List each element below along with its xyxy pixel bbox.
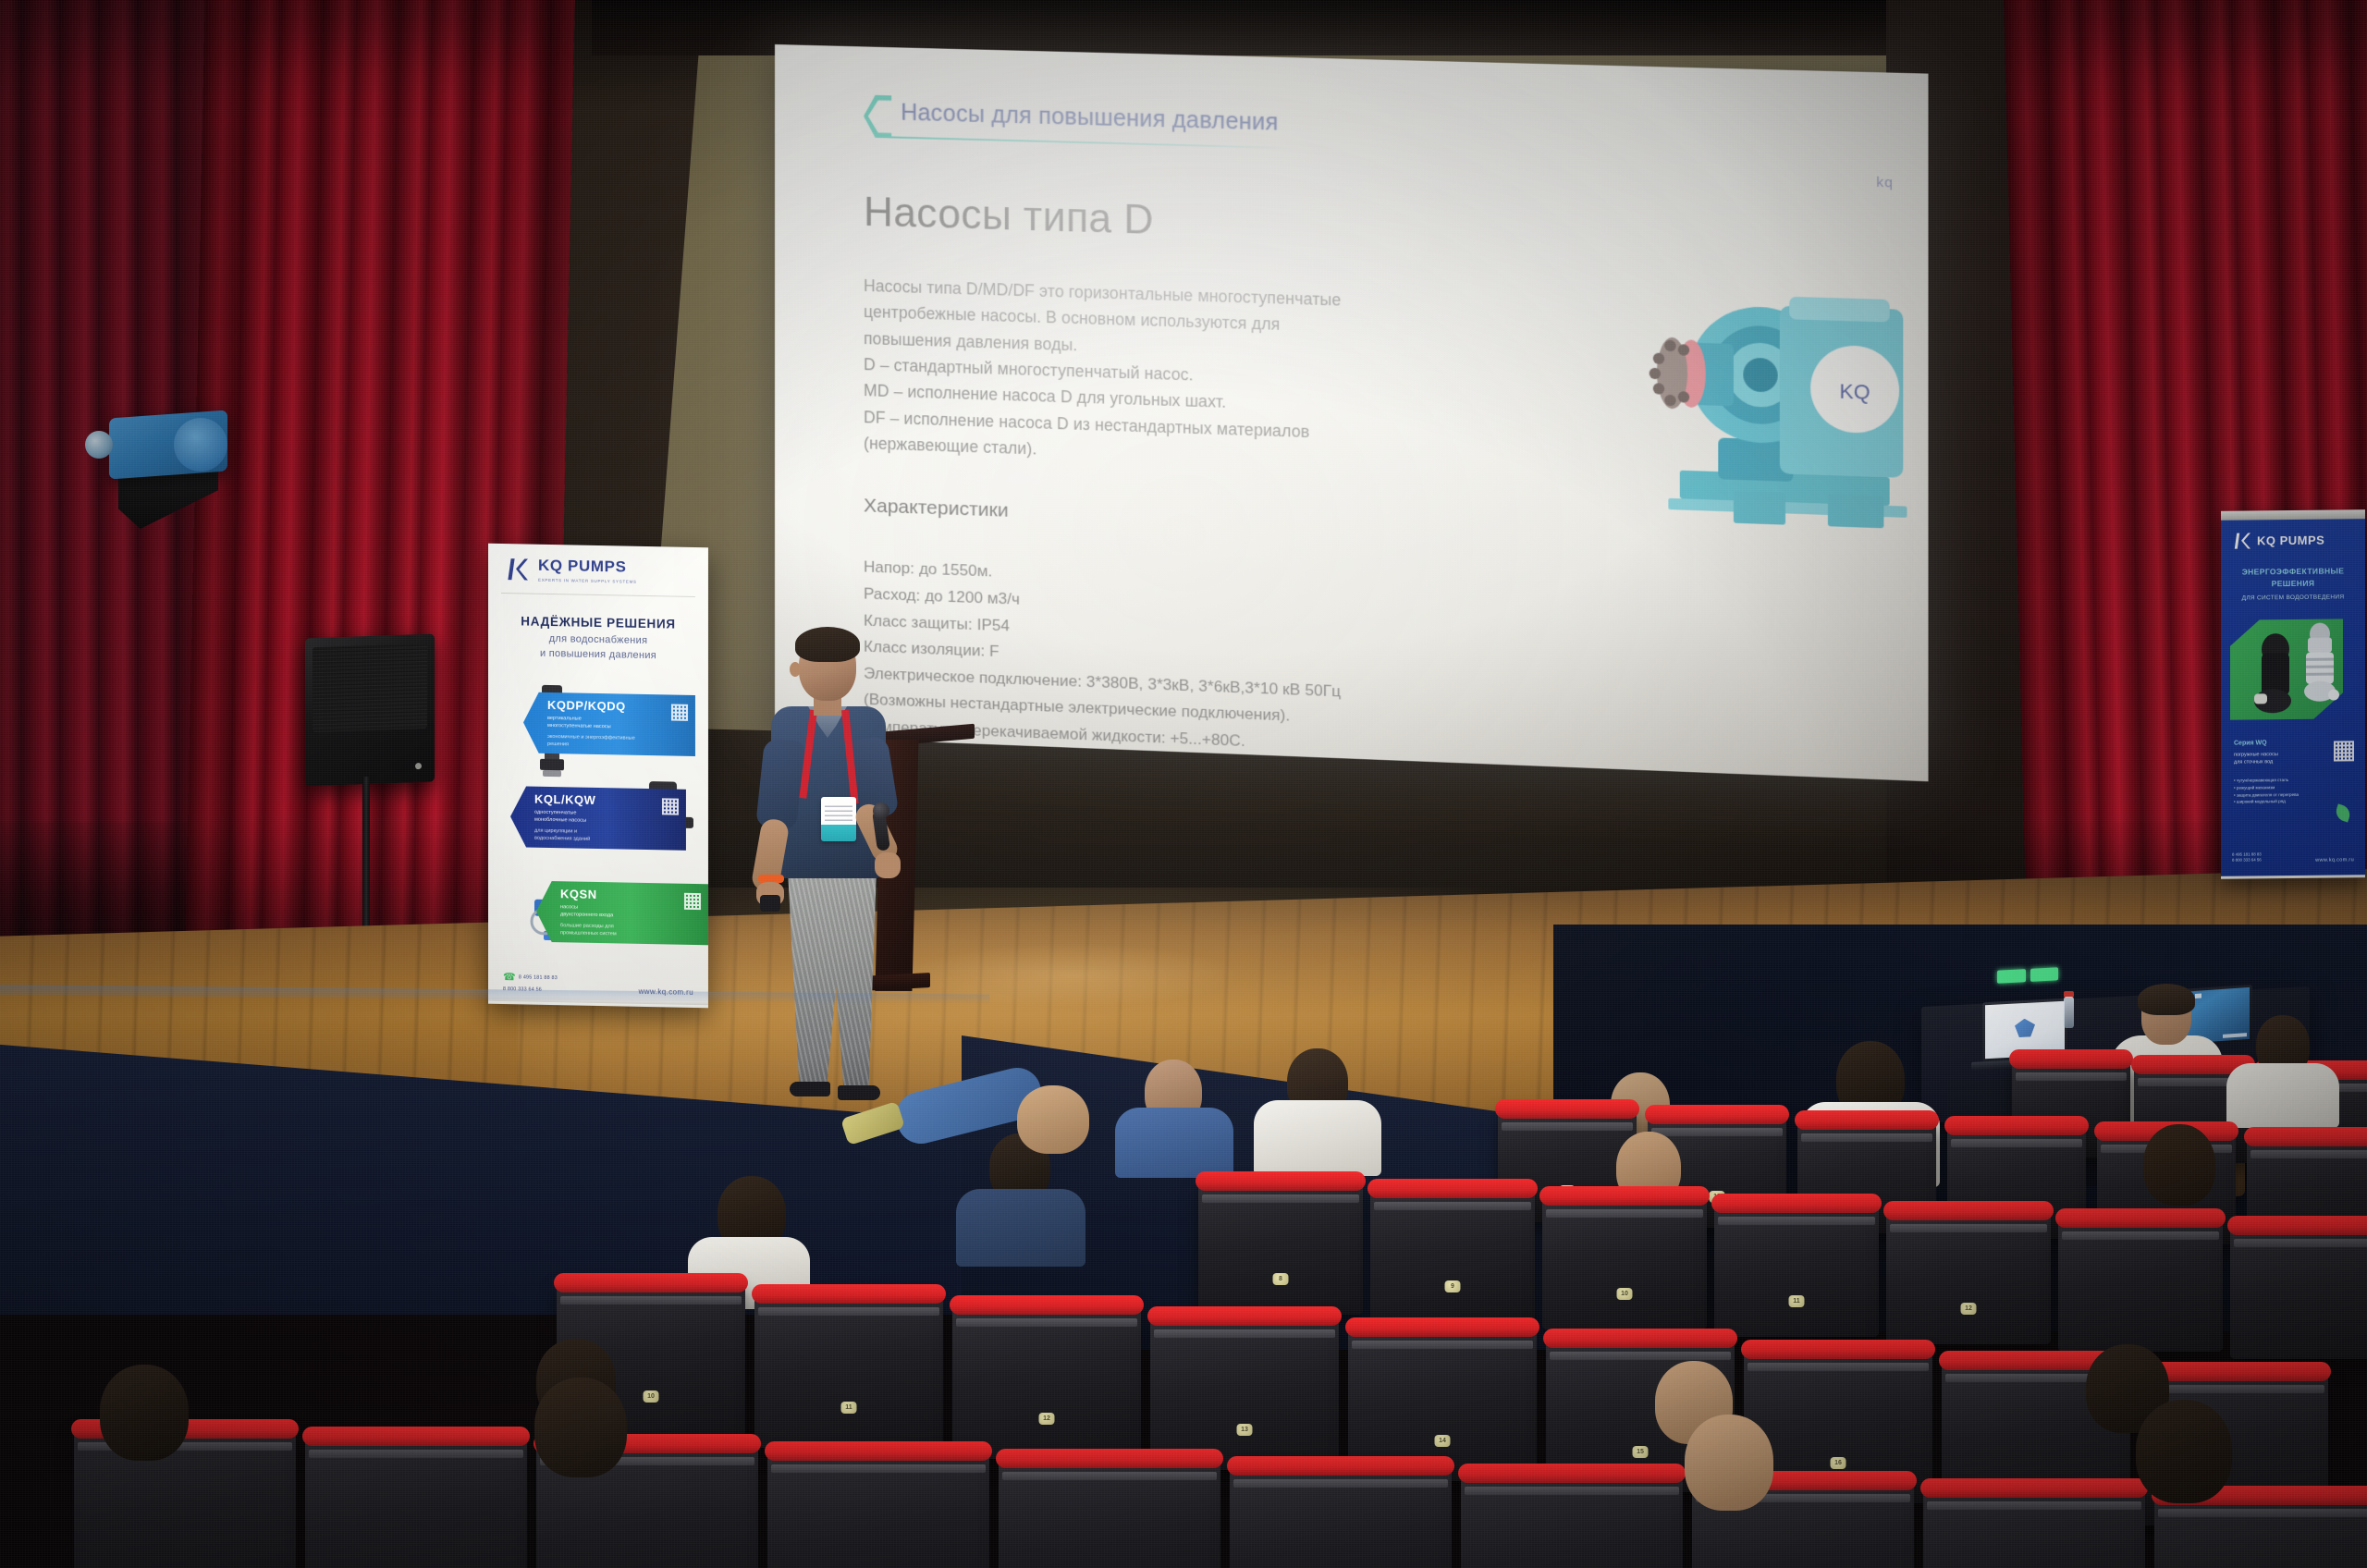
audience-head	[1017, 1085, 1089, 1154]
slide-eyebrow: Насосы для повышения давления	[864, 95, 1890, 165]
presenter-badge-text-lines	[825, 802, 852, 821]
projection-screen: Насосы для повышения давления Насосы тип…	[775, 44, 1929, 781]
qr-code-icon	[684, 893, 701, 910]
audience-head	[2143, 1124, 2215, 1206]
product-band-desc: одноступенчатые моноблочные насосы	[534, 808, 595, 825]
rollup-banner-left: KQ PUMPS EXPERTS IN WATER SUPPLY SYSTEMS…	[488, 544, 708, 1009]
kq-pumps-logo: KQ PUMPS EXPERTS IN WATER SUPPLY SYSTEMS	[488, 544, 708, 586]
presenter-hair	[795, 627, 860, 662]
seat-number: 13	[1237, 1424, 1253, 1436]
seat-number: 10	[644, 1390, 659, 1403]
seat[interactable]: 12	[952, 1304, 1141, 1459]
seat[interactable]: 13	[1150, 1315, 1339, 1470]
audience-head	[2136, 1400, 2232, 1503]
banner-subline: для водоснабжения и повышения давления	[488, 631, 708, 665]
product-band-desc2: для циркуляции и водоснабжения зданий	[534, 827, 595, 843]
seat[interactable]	[305, 1435, 527, 1568]
submersible-pump-dark-icon	[2254, 631, 2297, 717]
led-indicator	[2030, 967, 2059, 982]
eyebrow-underline	[889, 136, 1292, 149]
audience-shirt	[1254, 1100, 1381, 1176]
kq-tagline: EXPERTS IN WATER SUPPLY SYSTEMS	[538, 578, 637, 584]
banner-phone-numbers: ☎8 495 181 88 83 8 800 333 64 56	[503, 962, 558, 994]
audience-head	[1685, 1415, 1773, 1511]
banner-right-website: www.kq.com.ru	[2315, 857, 2354, 863]
led-indicator	[1997, 969, 2026, 984]
banner-right-headline: ЭНЕРГОЭФФЕКТИВНЫЕ РЕШЕНИЯ	[2221, 565, 2365, 590]
banner-divider	[501, 593, 695, 597]
phone-icon: ☎	[503, 970, 516, 986]
seat[interactable]	[1923, 1487, 2145, 1568]
audience-head	[100, 1365, 189, 1461]
submersible-pump-light-icon	[2300, 620, 2339, 709]
product-band-desc2: экономичные и энергоэффективные решения	[547, 732, 635, 750]
seat-number: 12	[1039, 1413, 1055, 1425]
seat[interactable]	[74, 1427, 296, 1568]
banner-right-series-desc: погружные насосы для сточных вод	[2234, 751, 2278, 766]
product-band-title: KQDP/KQDQ	[547, 698, 635, 714]
pump-illustration-icon: KQ	[1592, 250, 1929, 553]
audience-shirt	[2226, 1063, 2339, 1128]
banner-right-footer: 8 495 181 88 83 8 800 333 64 56 www.kq.c…	[2221, 851, 2365, 864]
slide-body-text: Насосы типа D/MD/DF это горизонтальные м…	[864, 273, 1436, 476]
slide-corner-logo: kq	[1876, 175, 1894, 191]
seat-number: 11	[841, 1402, 857, 1414]
qr-code-icon	[2334, 741, 2354, 761]
seat-number: 15	[1633, 1446, 1649, 1458]
audience-head	[534, 1378, 627, 1477]
auditorium-scene: Насосы для повышения давления Насосы тип…	[0, 0, 2367, 1568]
speaker-grille	[313, 643, 427, 732]
kq-pumps-logo-right: KQ PUMPS	[2221, 519, 2365, 550]
leaf-eco-icon	[2334, 803, 2352, 822]
seat-number: 16	[1831, 1457, 1846, 1469]
banner-right-phones: 8 495 181 88 83 8 800 333 64 56	[2232, 851, 2262, 864]
speaker-led-icon	[415, 763, 422, 769]
technician-hair	[2138, 984, 2195, 1015]
seat[interactable]	[1230, 1464, 1452, 1568]
seat-number: 9	[1445, 1280, 1461, 1292]
product-band-desc: вертикальные многоступенчатые насосы	[547, 715, 635, 732]
seat-number: 14	[1435, 1435, 1451, 1447]
seat-number: 10	[1617, 1288, 1633, 1300]
product-band-kqdp: KQDP/KQDQ вертикальные многоступенчатые …	[523, 692, 695, 756]
laptop-left-logo-icon	[2015, 1018, 2035, 1037]
seat-number: 12	[1961, 1303, 1977, 1315]
chevron-left-icon	[864, 95, 891, 139]
qr-code-icon	[671, 704, 688, 721]
seat[interactable]	[2230, 1224, 2367, 1359]
seat[interactable]: 8	[1198, 1180, 1363, 1315]
seat[interactable]	[999, 1457, 1220, 1568]
kq-wordmark: KQ PUMPS	[538, 557, 626, 576]
pa-speaker	[305, 634, 435, 787]
seat[interactable]	[2058, 1217, 2223, 1352]
presenter-hand-right	[875, 852, 901, 878]
product-band-title: KQL/KQW	[534, 791, 595, 806]
rollup-banner-right: KQ PUMPS ЭНЕРГОЭФФЕКТИВНЫЕ РЕШЕНИЯ ДЛЯ С…	[2221, 509, 2365, 879]
presenter-trousers-texture	[784, 873, 880, 1091]
presenter-ear	[790, 662, 801, 677]
seat[interactable]: 11	[754, 1292, 943, 1448]
product-band-kql: KQL/KQW одноступенчатые моноблочные насо…	[510, 786, 686, 851]
seat[interactable]: 10	[1542, 1194, 1707, 1329]
banner-right-bullets: • чугун/нержавеющая сталь • режущий меха…	[2234, 777, 2299, 806]
water-bottle	[2064, 997, 2074, 1028]
seat[interactable]: 11	[1714, 1202, 1879, 1337]
seat[interactable]	[2154, 1494, 2367, 1568]
projector-lens-icon	[85, 431, 113, 459]
product-band-desc: насосы двухстороннего входа	[560, 903, 617, 920]
seat-number: 11	[1789, 1295, 1805, 1307]
qr-code-icon	[662, 798, 679, 815]
audience-sandal	[840, 1101, 905, 1145]
product-band-kqsn: KQSN насосы двухстороннего входа большие…	[536, 881, 708, 946]
product-band-desc2: большие расходы для промышленных систем	[560, 922, 617, 938]
audience-shirt	[956, 1189, 1085, 1267]
banner-headline: НАДЁЖНЫЕ РЕШЕНИЯ	[488, 614, 708, 632]
kq-logo-mark-icon	[507, 557, 532, 582]
seat[interactable]	[1461, 1472, 1683, 1568]
seat-number: 8	[1273, 1273, 1289, 1285]
banner-right-subline: ДЛЯ СИСТЕМ ВОДООТВЕДЕНИЯ	[2221, 594, 2365, 602]
audience-shirt	[1115, 1108, 1233, 1178]
kq-logo-mark-icon	[2234, 531, 2252, 549]
banner-right-series-title: Серия WQ	[2234, 740, 2267, 746]
audience-seating: 10 13 8 9 10 11 12	[0, 1091, 2367, 1568]
svg-text:KQ: KQ	[1840, 379, 1870, 404]
projector-drum-icon	[174, 418, 227, 472]
kq-wordmark-right: KQ PUMPS	[2257, 533, 2324, 547]
projected-slide: Насосы для повышения давления Насосы тип…	[775, 44, 1929, 781]
seat[interactable]: 9	[1370, 1187, 1535, 1322]
microphone-head-icon	[873, 802, 889, 819]
product-band-title: KQSN	[560, 887, 617, 901]
seat[interactable]: 12	[1886, 1209, 2051, 1344]
presenter	[745, 621, 912, 1102]
seat[interactable]	[767, 1450, 989, 1568]
presentation-clicker-icon	[760, 895, 780, 912]
